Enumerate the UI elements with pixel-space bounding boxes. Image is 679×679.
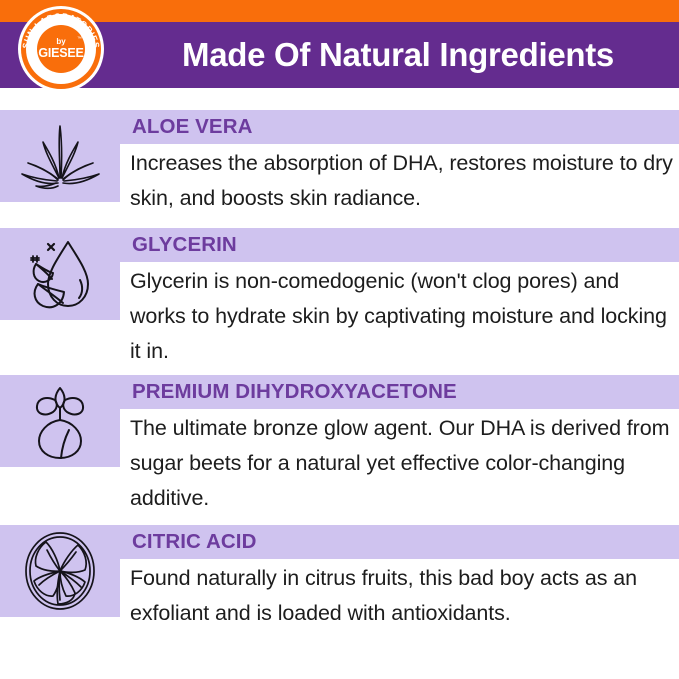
ingredient-description: The ultimate bronze glow agent. Our DHA …	[130, 411, 675, 516]
badge-by-label: by	[56, 38, 65, 46]
badge-brand-name: GIESEE	[38, 47, 83, 60]
water-droplet-leaf-icon	[18, 234, 102, 314]
ingredient-title: ALOE VERA	[132, 113, 253, 141]
citrus-slice-icon	[20, 530, 100, 612]
ingredient-title: GLYCERIN	[132, 231, 237, 259]
ingredient-title: PREMIUM DIHYDROXYACETONE	[132, 378, 457, 406]
icon-panel	[0, 110, 120, 202]
brand-logo-badge: SUN LABORATORIES NATURAL BEAUTY by GIESE…	[18, 6, 104, 92]
badge-brand-text: by GIESEE ™	[37, 25, 85, 73]
ingredient-description: Glycerin is non-comedogenic (won't clog …	[130, 264, 675, 369]
ingredient-description: Increases the absorption of DHA, restore…	[130, 146, 675, 216]
sugar-beet-icon	[21, 380, 99, 462]
page-title: Made Of Natural Ingredients	[128, 22, 668, 88]
icon-panel	[0, 525, 120, 617]
ingredient-description: Found naturally in citrus fruits, this b…	[130, 561, 675, 631]
icon-panel	[0, 228, 120, 320]
icon-panel	[0, 375, 120, 467]
trademark-symbol: ™	[77, 37, 82, 42]
ingredient-title: CITRIC ACID	[132, 528, 256, 556]
aloe-plant-icon	[12, 120, 108, 192]
